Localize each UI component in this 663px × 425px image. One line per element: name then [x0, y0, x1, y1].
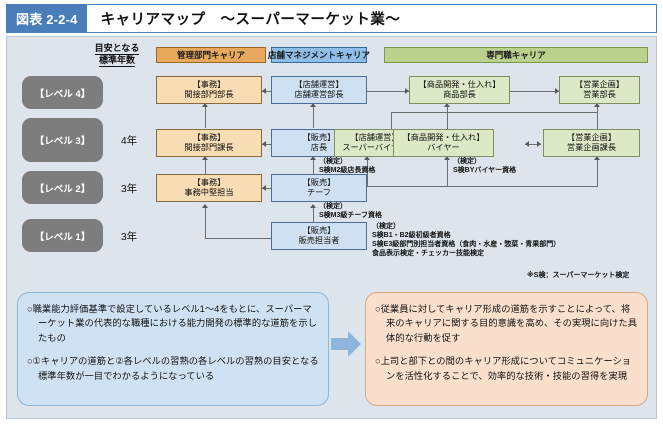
job-box-admin-level2-line1: 【事務】: [193, 178, 226, 188]
connector-store-l3-l4: [313, 104, 314, 128]
connector-store-goods-l4: [367, 91, 409, 92]
job-box-store-level3-line2: 店長: [311, 143, 327, 153]
job-box-store-level4[interactable]: 【店舗運営】 店舗運営部長: [271, 76, 367, 104]
job-box-goods-level3-line2: バイヤー: [427, 143, 460, 153]
job-box-admin-level2-line2: 事務中堅担当: [184, 188, 233, 198]
job-box-store-level1-line1: 【販売】: [303, 226, 336, 236]
figure-root: 図表 2-2-4 キャリアマップ ～スーパーマーケット業～ 目安となる 標準年数…: [0, 0, 663, 425]
level-pill-3: 【レベル 3】: [22, 118, 103, 162]
connector-specialist-l4-bus: [391, 112, 597, 113]
arrowhead-buyer-salesplan-right: [537, 141, 541, 147]
arrowhead-buyer-salesplan-left: [525, 141, 529, 147]
job-box-admin-level2[interactable]: 【事務】 事務中堅担当: [156, 174, 262, 202]
level-pill-2: 【レベル 2】: [22, 171, 103, 204]
cert-note-buyer: （検定） S検BYバイヤー資格: [453, 158, 516, 175]
arrowhead-l4-left: [262, 88, 266, 94]
job-box-store-level4-line1: 【店舗運営】: [294, 80, 343, 90]
job-box-store-level3-line1: 【販売】: [303, 133, 336, 143]
connector-bus-to-salesplan: [597, 157, 598, 187]
connector-sales-to-admin-vertical: [205, 205, 206, 239]
arrowhead-l3-left: [262, 141, 266, 147]
job-box-store-level2-line1: 【販売】: [303, 178, 336, 188]
job-box-salesplan-level3[interactable]: 【営業企画】 営業企画課長: [543, 129, 640, 157]
callout-purpose-p1: ○職業能力評価基準で設定しているレベル1～4をもとに、スーパーマーケット業の代表…: [27, 302, 319, 345]
job-box-admin-level3-line1: 【事務】: [193, 133, 226, 143]
job-box-salesplan-level4-line2: 営業部長: [583, 90, 616, 100]
job-box-store-level2[interactable]: 【販売】 チーフ: [271, 174, 367, 202]
level-pill-4: 【レベル 4】: [22, 76, 103, 109]
job-box-goods-level4[interactable]: 【商品開発・仕入れ】 商品部長: [409, 76, 510, 104]
job-box-salesplan-level3-line2: 営業企画課長: [567, 143, 616, 153]
category-bar-store: 店舗マネジメントキャリア: [271, 47, 367, 63]
job-box-store-level4-line2: 店舗運営部長: [294, 90, 343, 100]
years-level-1: 3年: [104, 229, 154, 244]
job-box-salesplan-level3-line1: 【営業企画】: [567, 133, 616, 143]
job-box-admin-level3[interactable]: 【事務】 間接部門課長: [156, 129, 262, 157]
flow-arrow-icon: [331, 331, 363, 357]
job-box-admin-level4[interactable]: 【事務】 間接部門部長: [156, 76, 262, 104]
years-axis-header-line1: 目安となる: [95, 43, 140, 55]
job-box-admin-level4-line1: 【事務】: [193, 80, 226, 90]
job-box-goods-level4-line1: 【商品開発・仕入れ】: [419, 80, 501, 90]
job-box-goods-level3[interactable]: 【商品開発・仕入れ】 バイヤー: [393, 129, 494, 157]
connector-salesplan-l3-l4: [597, 104, 598, 132]
cert-note-beginner: （検定） S検B1・B2級初級者資格 S検E3級部門別担当者資格（食肉・水産・惣…: [372, 222, 560, 258]
callout-purpose-p2: ○①キャリアの道筋と②各レベルの習熟の各レベルの習熟の目安となる標準年数が一目で…: [27, 354, 319, 383]
job-box-store-level2-line2: チーフ: [307, 188, 331, 198]
arrowhead-store-l1-l2: [310, 204, 316, 208]
callout-effects-p1: ○従業員に対してキャリア形成の道筋を示すことによって、将来のキャリアに関する目的…: [375, 302, 638, 345]
arrowhead-sales-to-admin: [202, 204, 208, 208]
level-pill-1: 【レベル 1】: [22, 219, 103, 252]
job-box-goods-level4-line2: 商品部長: [443, 90, 476, 100]
job-box-admin-level3-line2: 間接部門課長: [184, 143, 233, 153]
cert-note-store-manager: （検定） S検M2級店長資格: [319, 158, 375, 175]
years-axis-header: 目安となる 標準年数: [78, 43, 156, 67]
callout-purpose: ○職業能力評価基準で設定しているレベル1～4をもとに、スーパーマーケット業の代表…: [17, 292, 329, 406]
job-box-salesplan-level4[interactable]: 【営業企画】 営業部長: [559, 76, 640, 104]
job-box-goods-level3-line1: 【商品開発・仕入れ】: [403, 133, 485, 143]
category-bar-specialist: 専門職キャリア: [384, 47, 648, 63]
callout-effects: ○従業員に対してキャリア形成の道筋を示すことによって、将来のキャリアに関する目的…: [365, 292, 648, 406]
job-box-store-level1-line2: 販売担当者: [299, 236, 340, 246]
job-box-store-level1[interactable]: 【販売】 販売担当者: [271, 222, 367, 250]
category-bar-admin: 管理部門キャリア: [156, 47, 266, 63]
job-box-salesplan-level4-line1: 【営業企画】: [575, 80, 624, 90]
years-level-3: 4年: [104, 133, 154, 148]
figure-number: 図表 2-2-4: [7, 5, 87, 32]
figure-title-bar: 図表 2-2-4 キャリアマップ ～スーパーマーケット業～: [6, 4, 657, 33]
cert-note-chief: （検定） S検M3級チーフ資格: [319, 203, 382, 220]
connector-bus-to-buyer: [447, 157, 448, 187]
figure-title: キャリアマップ ～スーパーマーケット業～: [87, 5, 656, 32]
job-box-admin-level4-line2: 間接部門部長: [184, 90, 233, 100]
years-level-2: 3年: [104, 181, 154, 196]
footnote-s-exam: ※S検：スーパーマーケット検定: [527, 270, 629, 280]
years-axis-header-line2: 標準年数: [99, 55, 135, 67]
arrowhead-l2-left: [262, 185, 266, 191]
callout-effects-p2: ○上司と部下との間のキャリア形成についてコミュニケーションを活性化することで、効…: [375, 354, 638, 383]
connector-admin-l3-l4: [205, 104, 206, 128]
